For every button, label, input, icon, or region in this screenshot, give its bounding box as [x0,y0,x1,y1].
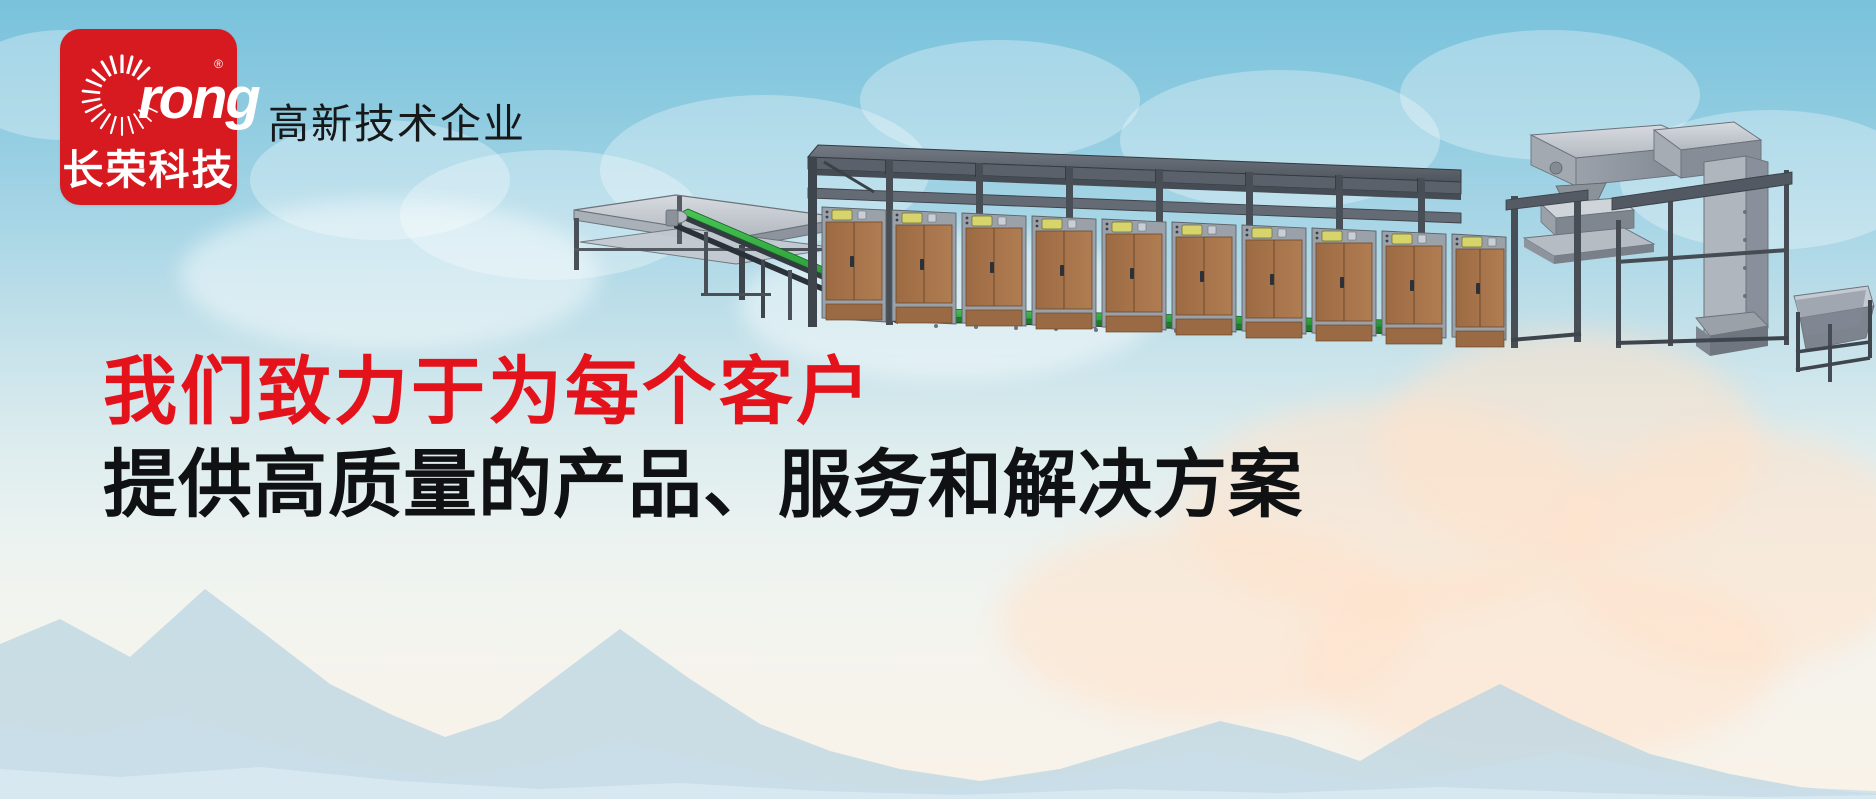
headline-line-1: 我们致力于为每个客户 [103,352,1303,435]
logo-wordmark: rong [138,70,259,128]
oven-cabinet [1382,231,1446,344]
oven-cabinet [1032,216,1096,329]
company-logo[interactable]: ® [60,29,237,205]
oven-cabinet [892,210,956,324]
oven-cabinet [962,213,1026,326]
oven-cabinet [1452,234,1506,347]
headline-line-2: 提供高质量的产品、服务和解决方案 [103,445,1303,528]
logo-company-name: 长荣科技 [60,150,237,191]
collection-bin [1794,286,1874,382]
oven-cabinet [1172,222,1236,335]
cloud-shape [180,200,600,350]
oven-cabinet [1312,228,1376,341]
oven-cabinet [1102,219,1166,332]
headline-block: 我们致力于为每个客户 提供高质量的产品、服务和解决方案 [103,352,1303,528]
discharge-table [574,195,846,300]
oven-cabinet [822,207,886,322]
industrial-machine-illustration [556,100,1876,390]
oven-cabinet [1242,225,1306,338]
hi-tech-enterprise-tagline: 高新技术企业 [268,104,526,145]
drying-oven-cabinets [822,207,1506,347]
banner-root: ® [0,0,1876,799]
